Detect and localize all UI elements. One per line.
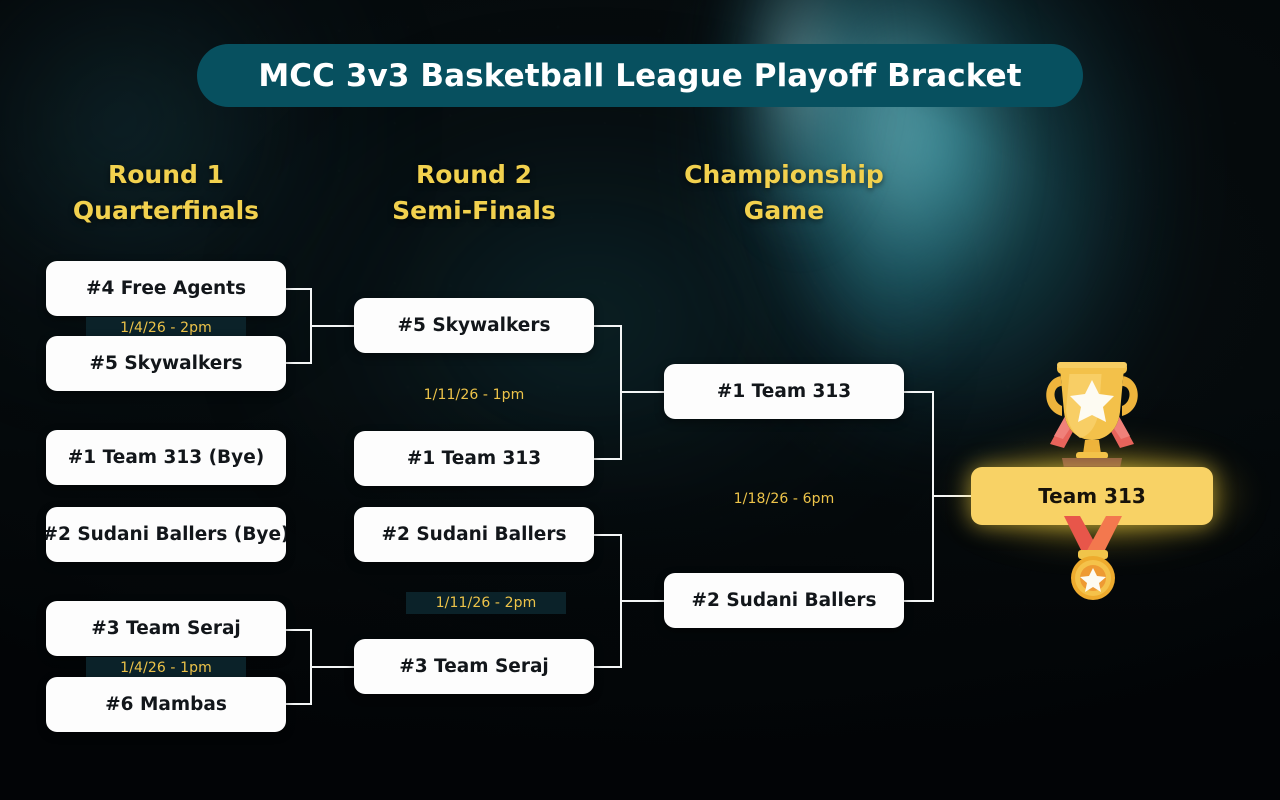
match-box-r2m2-bottom[interactable]: #3 Team Seraj <box>354 639 594 694</box>
page-title: MCC 3v3 Basketball League Playoff Bracke… <box>258 58 1021 94</box>
connector-r2m2-top <box>594 534 622 536</box>
match-box-r1m2-top[interactable]: #1 Team 313 (Bye) <box>46 430 286 485</box>
connector-r2m1-top <box>594 325 622 327</box>
connector-r1m1-bottom <box>286 362 312 364</box>
connector-final-bottom <box>904 600 934 602</box>
match-box-r1m3-top[interactable]: #3 Team Seraj <box>46 601 286 656</box>
connector-r2m1-bottom <box>594 458 622 460</box>
connector-r1m1-top <box>286 288 312 290</box>
match-date-r1m1: 1/4/26 - 2pm <box>86 317 246 338</box>
connector-r1m3-bottom <box>286 703 312 705</box>
column-heading-championship: Championship Game <box>673 157 895 229</box>
medal-icon <box>1054 516 1132 600</box>
match-date-r2m1: 1/11/26 - 1pm <box>394 384 554 405</box>
connector-final-top <box>904 391 934 393</box>
page-title-bar: MCC 3v3 Basketball League Playoff Bracke… <box>197 44 1083 107</box>
connector-r2m2-bottom <box>594 666 622 668</box>
match-box-r1m1-bottom[interactable]: #5 Skywalkers <box>46 336 286 391</box>
match-box-r2m1-bottom[interactable]: #1 Team 313 <box>354 431 594 486</box>
column-heading-round-2: Round 2 Semi-Finals <box>363 157 585 229</box>
connector-r1m3-top <box>286 629 312 631</box>
match-box-final-top[interactable]: #1 Team 313 <box>664 364 904 419</box>
match-box-r1m2-bottom[interactable]: #2 Sudani Ballers (Bye) <box>46 507 286 562</box>
match-date-r1m3: 1/4/26 - 1pm <box>86 657 246 678</box>
match-box-r2m1-top[interactable]: #5 Skywalkers <box>354 298 594 353</box>
match-date-r2m2: 1/11/26 - 2pm <box>406 592 566 614</box>
match-box-r1m3-bottom[interactable]: #6 Mambas <box>46 677 286 732</box>
connector-r1m1-out <box>310 325 356 327</box>
column-heading-round-1: Round 1 Quarterfinals <box>55 157 277 229</box>
match-box-r1m1-top[interactable]: #4 Free Agents <box>46 261 286 316</box>
connector-r2m2-out <box>620 600 666 602</box>
match-date-final: 1/18/26 - 6pm <box>704 488 864 509</box>
trophy-icon <box>1032 352 1152 480</box>
match-box-r2m2-top[interactable]: #2 Sudani Ballers <box>354 507 594 562</box>
match-box-final-bottom[interactable]: #2 Sudani Ballers <box>664 573 904 628</box>
connector-r1m3-out <box>310 666 356 668</box>
connector-r2m1-out <box>620 391 666 393</box>
